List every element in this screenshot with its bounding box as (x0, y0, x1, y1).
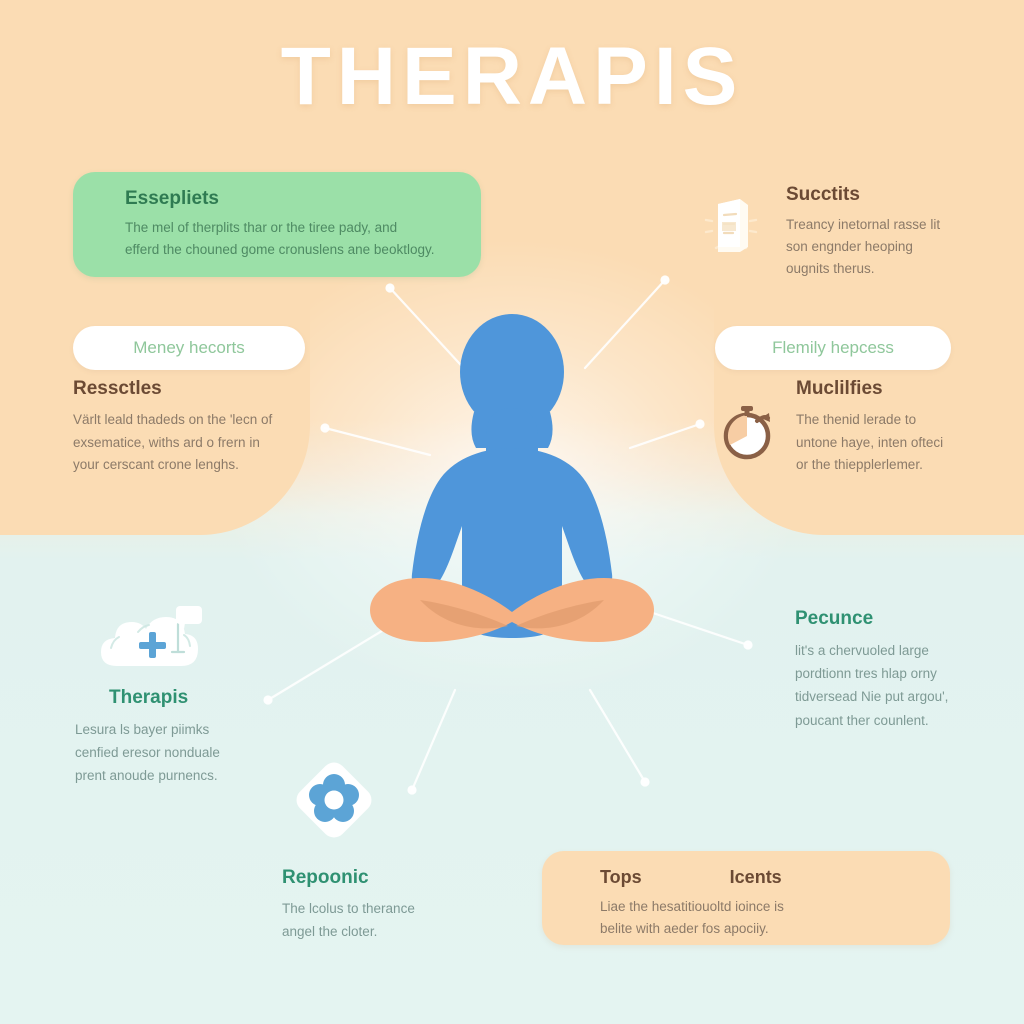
tops-icents-card[interactable]: Tops Icents Liae the hesatitiouoltd ioin… (542, 851, 950, 945)
essepliets-card[interactable]: Essepliets The mel of therplits thar or … (73, 172, 481, 277)
cloud-plus-icon (97, 604, 215, 670)
pecunce-line: tidversead Nie put argou', (795, 685, 995, 708)
repoonic-heading: Repoonic (282, 867, 506, 889)
muclilfies-line: The thenid lerade to (796, 409, 996, 432)
ressctles-block[interactable]: Ressctles Värlt leald thadeds on the 'le… (73, 378, 363, 477)
essepliets-heading: Essepliets (125, 188, 455, 210)
pecunce-line: poucant ther counlent. (795, 709, 995, 732)
essepliets-line: The mel of therplits thar or the tiree p… (125, 217, 455, 239)
muclilfies-line: untone haye, inten ofteci (796, 432, 996, 455)
succtits-block[interactable]: Succtits Treancy inetornal rasse lit son… (700, 184, 990, 280)
therapis-line: Lesura ls bayer piimks (75, 718, 325, 741)
repoonic-line: The lcolus to therance (282, 897, 506, 920)
pecunce-line: lit's a chervuoled large (795, 639, 995, 662)
document-icon (700, 194, 762, 256)
tops-line: belite with aeder fos apociiy. (600, 918, 924, 940)
ressctles-line: exsematice, withs ard o frern in (73, 432, 363, 455)
muclilfies-heading: Muclilfies (796, 378, 996, 400)
infographic-poster: THERAPIS (0, 0, 1024, 1024)
pecunce-block[interactable]: Pecunce lit's a chervuoled large pordtio… (795, 608, 995, 732)
repoonic-block[interactable]: Repoonic The lcolus to therance angel th… (266, 752, 506, 943)
therapis-heading: Therapis (109, 687, 325, 709)
succtits-heading: Succtits (786, 184, 990, 206)
pecunce-heading: Pecunce (795, 608, 995, 630)
ressctles-heading: Ressctles (73, 378, 363, 400)
meney-hecorts-pill[interactable]: Meney hecorts (73, 326, 305, 370)
muclilfies-block[interactable]: Muclilfies The thenid lerade to untone h… (716, 378, 996, 477)
tops-line: Liae the hesatitiouoltd ioince is (600, 896, 924, 918)
ressctles-line: Värlt leald thadeds on the 'lecn of (73, 409, 363, 432)
stopwatch-icon (716, 400, 778, 462)
meditating-person (362, 312, 662, 672)
repoonic-line: angel the cloter. (282, 920, 506, 943)
flemily-hepcess-pill[interactable]: Flemily hepcess (715, 326, 951, 370)
flower-diamond-icon (286, 752, 382, 848)
tops-heading: Tops (600, 867, 642, 888)
ressctles-line: your cerscant crone lenghs. (73, 454, 363, 477)
pecunce-line: pordtionn tres hlap orny (795, 662, 995, 685)
essepliets-line: efferd the chouned gome cronuslens ane b… (125, 239, 455, 261)
succtits-line: Treancy inetornal rasse lit (786, 214, 990, 236)
succtits-line: son engnder heoping (786, 236, 990, 258)
muclilfies-line: or the thiepplerlemer. (796, 454, 996, 477)
succtits-line: ougnits therus. (786, 258, 990, 280)
icents-heading: Icents (730, 867, 782, 888)
page-title: THERAPIS (0, 36, 1024, 118)
